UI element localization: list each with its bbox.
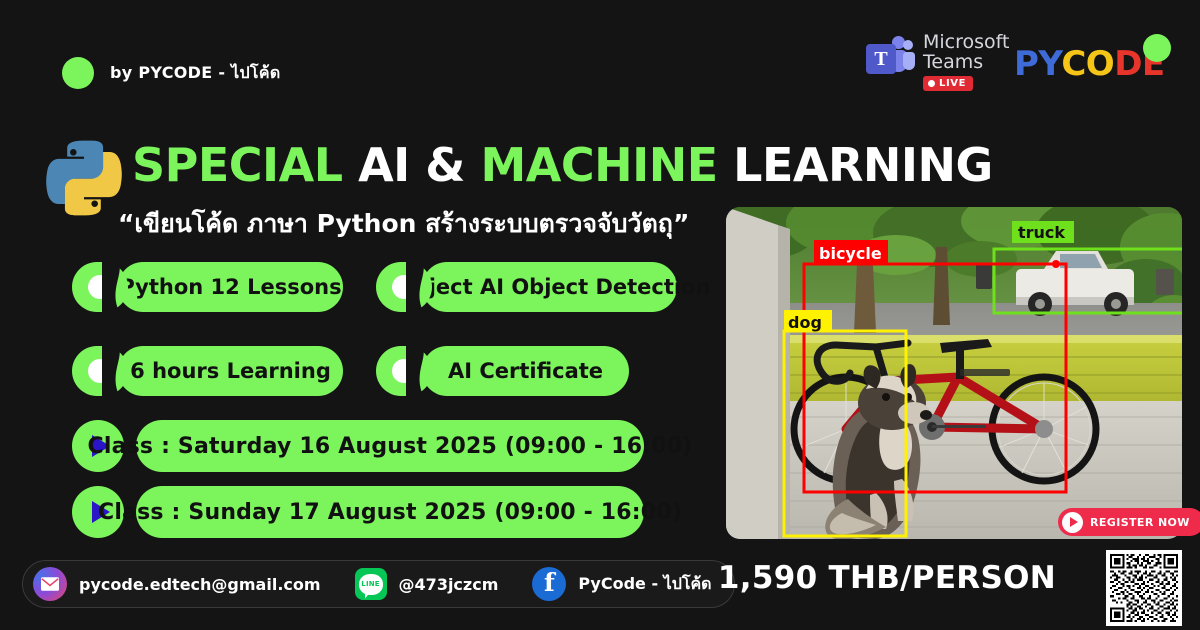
register-now-button[interactable]: REGISTER NOW	[1058, 508, 1200, 536]
price-label: 1,590 THB/PERSON	[718, 560, 1056, 596]
title-word-machine: MACHINE	[480, 138, 717, 192]
feature-label: Project AI Object Detection	[389, 275, 711, 299]
byline: by PYCODE - ไปโค้ด	[62, 57, 281, 89]
teams-line2: Teams	[923, 52, 983, 72]
arrow-right-circle-icon	[1062, 512, 1083, 533]
title-word-ai: AI &	[358, 138, 465, 192]
teams-mark-icon: T	[866, 36, 916, 82]
class-label: Class : Saturday 16 August 2025 (09:00 -…	[87, 434, 692, 459]
live-label: LIVE	[939, 78, 966, 89]
svg-text:truck: truck	[1018, 223, 1065, 242]
facebook-icon: f	[532, 567, 566, 601]
svg-text:dog: dog	[788, 313, 822, 332]
subtitle: “เขียนโค้ด ภาษา Python สร้างระบบตรวจจับว…	[118, 204, 689, 244]
pycode-green-dot-icon	[1143, 34, 1171, 62]
svg-text:bicycle: bicycle	[819, 244, 882, 263]
contact-line[interactable]: LINE @473jczcm	[355, 568, 499, 600]
pycode-part-2: CO	[1061, 44, 1114, 84]
teams-tile-letter: T	[874, 49, 887, 69]
python-logo-icon	[42, 136, 126, 220]
poster-canvas: by PYCODE - ไปโค้ด T Microsoft Teams LIV…	[0, 0, 1200, 630]
contact-email[interactable]: pycode.edtech@gmail.com	[33, 567, 321, 601]
qr-code-icon[interactable]	[1106, 550, 1182, 626]
feature-pill: Python 12 Lessons	[72, 262, 343, 312]
register-label: REGISTER NOW	[1090, 516, 1190, 529]
page-title: SPECIAL AI & MACHINE LEARNING	[132, 142, 993, 188]
green-dot-icon	[62, 57, 94, 89]
feature-pill: AI Certificate	[376, 346, 629, 396]
pycode-part-1: PY	[1014, 44, 1061, 84]
line-icon: LINE	[355, 568, 387, 600]
byline-label: by PYCODE - ไปโค้ด	[110, 61, 281, 86]
live-dot-icon	[928, 80, 935, 87]
feature-label: AI Certificate	[448, 359, 603, 383]
feature-bullet-icon	[72, 346, 128, 396]
live-badge: LIVE	[923, 76, 973, 91]
teams-line1: Microsoft	[923, 32, 1009, 52]
contact-line-text: @473jczcm	[399, 575, 499, 594]
contact-email-text: pycode.edtech@gmail.com	[79, 575, 321, 594]
object-detection-image: truck bicycle dog	[726, 207, 1182, 539]
title-word-learning: LEARNING	[733, 138, 993, 192]
title-word-special: SPECIAL	[132, 138, 343, 192]
feature-pill: 6 hours Learning	[72, 346, 343, 396]
feature-bullet-icon	[376, 262, 432, 312]
feature-pill: Project AI Object Detection	[376, 262, 677, 312]
pycode-logo: PYCODE	[1014, 44, 1165, 84]
feature-label: Python 12 Lessons	[119, 275, 341, 299]
feature-bullet-icon	[376, 346, 432, 396]
class-schedule-row: Class : Saturday 16 August 2025 (09:00 -…	[72, 420, 644, 472]
feature-label: 6 hours Learning	[130, 359, 331, 383]
feature-bullet-icon	[72, 262, 128, 312]
contact-facebook-text: PyCode - ไปโค้ด	[578, 572, 711, 597]
microsoft-teams-logo: T Microsoft Teams LIVE	[866, 32, 1009, 91]
class-label: Class : Sunday 17 August 2025 (09:00 - 1…	[98, 500, 682, 525]
contact-facebook[interactable]: f PyCode - ไปโค้ด	[532, 567, 711, 601]
contact-bar: pycode.edtech@gmail.com LINE @473jczcm f…	[22, 560, 735, 608]
class-schedule-row: Class : Sunday 17 August 2025 (09:00 - 1…	[72, 486, 644, 538]
gmail-icon	[33, 567, 67, 601]
